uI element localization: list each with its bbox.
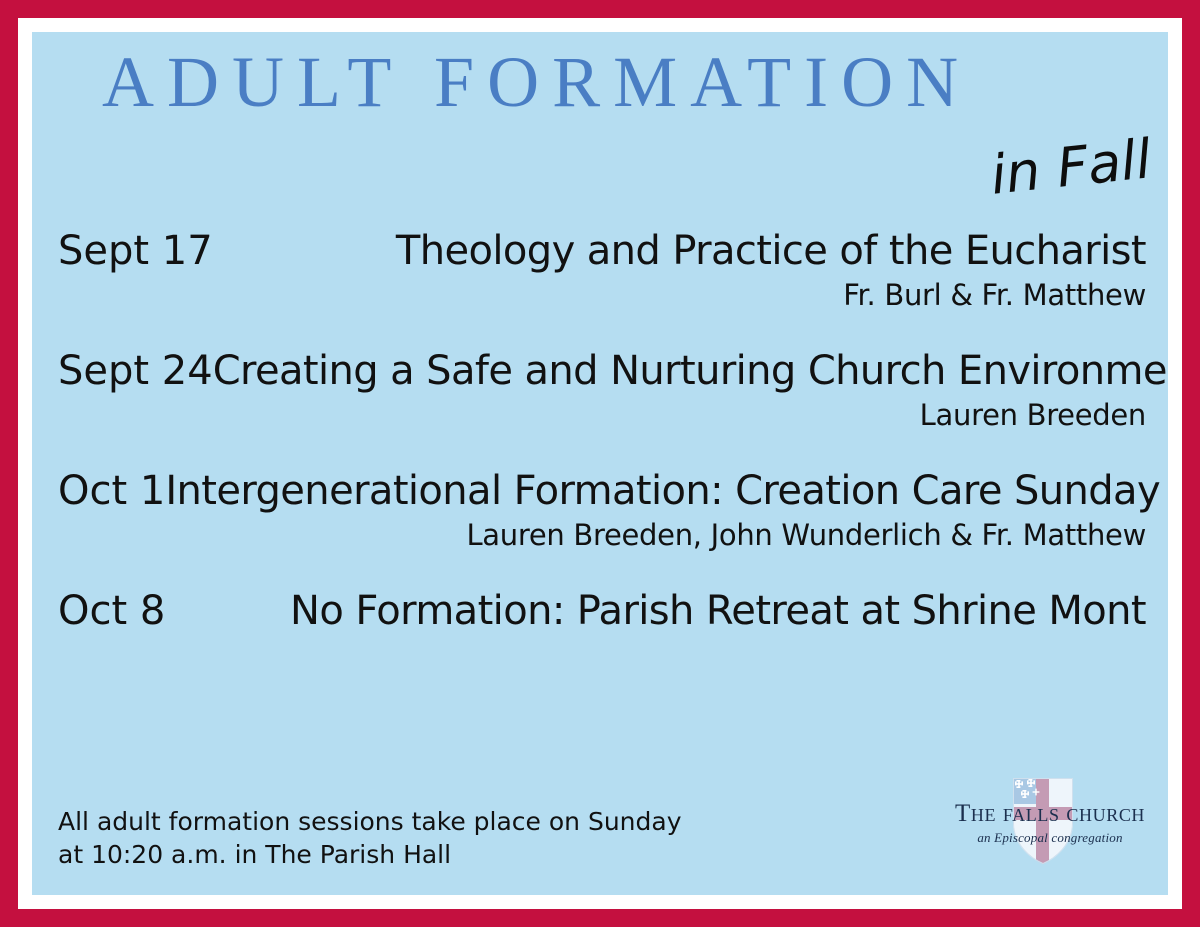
schedule-row-main: Sept 17 Theology and Practice of the Euc… — [32, 228, 1168, 274]
session-date: Oct 8 — [58, 588, 165, 634]
session-topic: Intergenerational Formation: Creation Ca… — [165, 468, 1160, 514]
schedule-row: Sept 24 Creating a Safe and Nurturing Ch… — [32, 348, 1168, 468]
schedule-row-main: Oct 1 Intergenerational Formation: Creat… — [32, 468, 1168, 514]
session-date: Sept 24 — [58, 348, 213, 394]
page-title: ADULT FORMATION — [102, 46, 971, 118]
schedule-row-main: Sept 24 Creating a Safe and Nurturing Ch… — [32, 348, 1168, 394]
session-presenter: Lauren Breeden, John Wunderlich & Fr. Ma… — [32, 514, 1168, 553]
footer-note: All adult formation sessions take place … — [58, 805, 682, 871]
session-topic: Theology and Practice of the Eucharist — [396, 228, 1146, 274]
poster-header: ADULT FORMATION in Fall — [32, 32, 1168, 232]
poster-panel: ADULT FORMATION in Fall Sept 17 Theology… — [32, 32, 1168, 895]
schedule-row-main: Oct 8 No Formation: Parish Retreat at Sh… — [32, 588, 1168, 634]
session-date: Sept 17 — [58, 228, 213, 274]
poster: ADULT FORMATION in Fall Sept 17 Theology… — [0, 0, 1200, 927]
schedule-row: Oct 1 Intergenerational Formation: Creat… — [32, 468, 1168, 588]
schedule-row: Oct 8 No Formation: Parish Retreat at Sh… — [32, 588, 1168, 634]
schedule-list: Sept 17 Theology and Practice of the Euc… — [32, 228, 1168, 634]
session-topic: Creating a Safe and Nurturing Church Env… — [213, 348, 1168, 394]
poster-mat: ADULT FORMATION in Fall Sept 17 Theology… — [18, 18, 1182, 909]
logo-text: The Falls Church an Episcopal congregati… — [950, 801, 1150, 844]
session-presenter: Fr. Burl & Fr. Matthew — [32, 274, 1168, 313]
session-topic: No Formation: Parish Retreat at Shrine M… — [290, 588, 1146, 634]
church-logo: The Falls Church an Episcopal congregati… — [950, 777, 1150, 877]
session-date: Oct 1 — [58, 468, 165, 514]
session-presenter: Lauren Breeden — [32, 394, 1168, 433]
logo-church-name: The Falls Church — [950, 801, 1150, 826]
season-script-label: in Fall — [989, 132, 1154, 202]
logo-tagline: an Episcopal congregation — [950, 831, 1150, 844]
schedule-row: Sept 17 Theology and Practice of the Euc… — [32, 228, 1168, 348]
